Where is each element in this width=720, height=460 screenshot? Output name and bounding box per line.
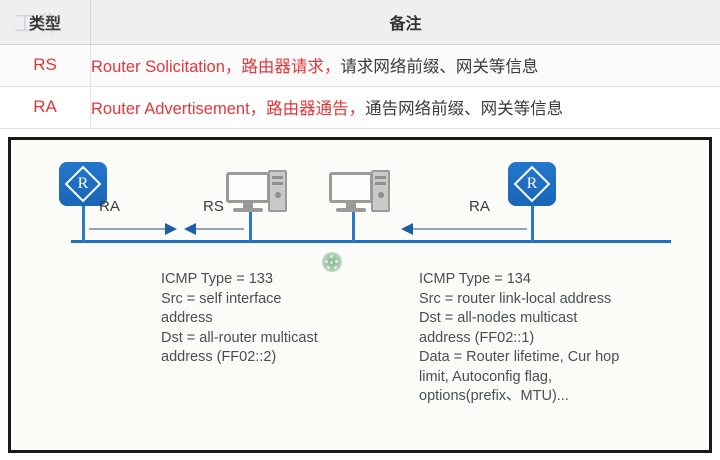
- monitor-screen: [329, 172, 373, 203]
- left-router-drop-line: [82, 206, 85, 242]
- right-router-drop-line: [531, 206, 534, 242]
- rs-packet-info-block: ICMP Type = 133 Src = self interface add…: [161, 270, 411, 368]
- cell-type-ra: RA: [0, 86, 91, 128]
- monitor-screen: [226, 172, 270, 203]
- logo-dot: [325, 260, 328, 263]
- arrow-label-ra-left: RA: [99, 198, 120, 215]
- pc-drive-bay: [272, 182, 283, 185]
- arrow-line-ra-left: [89, 228, 167, 230]
- right-host-pc-icon: [329, 170, 393, 216]
- arrow-head-left-icon: [184, 223, 196, 235]
- arrow-head-left-icon: [401, 223, 413, 235]
- table-row: RA Router Advertisement，路由器通告，通告网络前缀、网关等…: [0, 86, 720, 128]
- arrow-label-ra-right: RA: [469, 198, 490, 215]
- right-router-label: R: [508, 162, 556, 206]
- right-host-drop-line: [352, 212, 355, 242]
- column-header-note: 备注: [91, 0, 720, 44]
- cell-note-ra: Router Advertisement，路由器通告，通告网络前缀、网关等信息: [91, 86, 720, 128]
- pc-drive-bay: [375, 182, 386, 185]
- green-logo-watermark-icon: [322, 252, 342, 272]
- note-ra-chinese-red: 路由器通告，: [266, 100, 365, 118]
- pc-drive-bay: [375, 176, 386, 179]
- logo-dot: [335, 260, 338, 263]
- arrow-line-ra-right: [413, 228, 527, 230]
- logo-dot: [334, 266, 337, 269]
- monitor-base: [233, 208, 263, 212]
- cell-note-rs: Router Solicitation，路由器请求，请求网络前缀、网关等信息: [91, 44, 720, 86]
- screenshot-root: 类型 备注 RS Router Solicitation，路由器请求，请求网络前…: [0, 0, 720, 460]
- monitor-base: [336, 208, 366, 212]
- note-ra-english: Router Advertisement，: [91, 100, 266, 118]
- ra-packet-info-block: ICMP Type = 134 Src = router link-local …: [419, 270, 704, 407]
- arrow-head-right-icon: [165, 223, 177, 235]
- table-row: RS Router Solicitation，路由器请求，请求网络前缀、网关等信…: [0, 44, 720, 86]
- right-router-icon: R: [508, 162, 556, 206]
- logo-dot: [330, 261, 333, 264]
- network-diagram: R R RA: [8, 137, 712, 453]
- column-header-type: 类型: [0, 0, 91, 44]
- pc-power-button: [378, 192, 384, 198]
- logo-dot: [330, 255, 333, 258]
- note-rs-chinese-red: 路由器请求，: [241, 58, 340, 76]
- table-header-row: 类型 备注: [0, 0, 720, 44]
- pc-power-button: [275, 192, 281, 198]
- left-host-drop-line: [249, 212, 252, 242]
- pc-drive-bay: [272, 176, 283, 179]
- logo-dot: [327, 266, 330, 269]
- protocol-table: 类型 备注 RS Router Solicitation，路由器请求，请求网络前…: [0, 0, 720, 129]
- arrow-line-rs: [196, 228, 244, 230]
- note-ra-chinese-black: 通告网络前缀、网关等信息: [365, 100, 563, 118]
- note-rs-chinese-black: 请求网络前缀、网关等信息: [340, 58, 538, 76]
- note-rs-english: Router Solicitation，: [91, 58, 241, 76]
- arrow-label-rs: RS: [203, 198, 224, 215]
- cell-type-rs: RS: [0, 44, 91, 86]
- network-bus-line: [71, 240, 671, 243]
- left-host-pc-icon: [226, 170, 290, 216]
